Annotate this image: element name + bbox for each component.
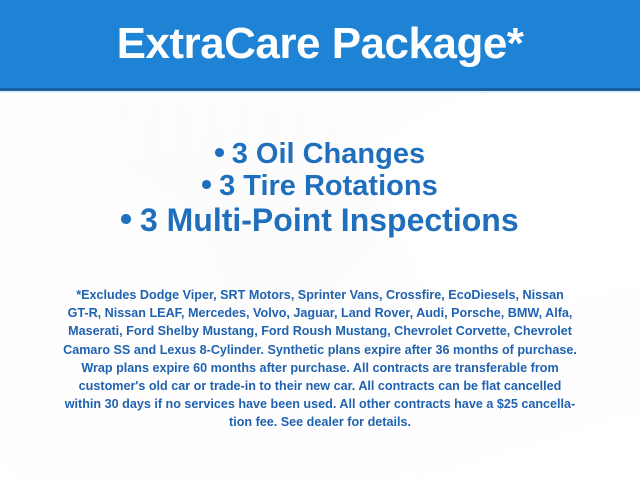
benefit-item: 3 Oil Changes <box>0 138 640 170</box>
extracare-package-promo-card: ExtraCare Package* 3 Oil Changes 3 Tire … <box>0 0 640 480</box>
disclaimer-line: Maserati, Ford Shelby Mustang, Ford Rous… <box>18 322 622 340</box>
banner-divider-light <box>0 91 640 93</box>
bullet-dot-icon <box>121 214 131 224</box>
benefit-item: 3 Tire Rotations <box>0 170 640 202</box>
disclaimer-line: customer's old car or trade-in to their … <box>18 377 622 395</box>
header-banner: ExtraCare Package* <box>0 0 640 88</box>
benefit-item: 3 Multi-Point Inspections <box>0 203 640 239</box>
disclaimer-line: GT-R, Nissan LEAF, Mercedes, Volvo, Jagu… <box>18 304 622 322</box>
disclaimer-line: within 30 days if no services have been … <box>18 395 622 413</box>
benefits-list: 3 Oil Changes 3 Tire Rotations 3 Multi-P… <box>0 138 640 239</box>
benefit-item-label: 3 Multi-Point Inspections <box>140 202 519 238</box>
benefit-item-label: 3 Tire Rotations <box>219 170 438 202</box>
disclaimer-line: Wrap plans expire 60 months after purcha… <box>18 359 622 377</box>
disclaimer-line: *Excludes Dodge Viper, SRT Motors, Sprin… <box>18 286 622 304</box>
page-title: ExtraCare Package* <box>117 22 524 66</box>
disclaimer-line: tion fee. See dealer for details. <box>18 413 622 431</box>
disclaimer-text: *Excludes Dodge Viper, SRT Motors, Sprin… <box>18 286 622 432</box>
disclaimer-line: Camaro SS and Lexus 8-Cylinder. Syntheti… <box>18 341 622 359</box>
benefit-item-label: 3 Oil Changes <box>232 138 425 170</box>
bullet-dot-icon <box>215 148 224 157</box>
bullet-dot-icon <box>202 180 211 189</box>
